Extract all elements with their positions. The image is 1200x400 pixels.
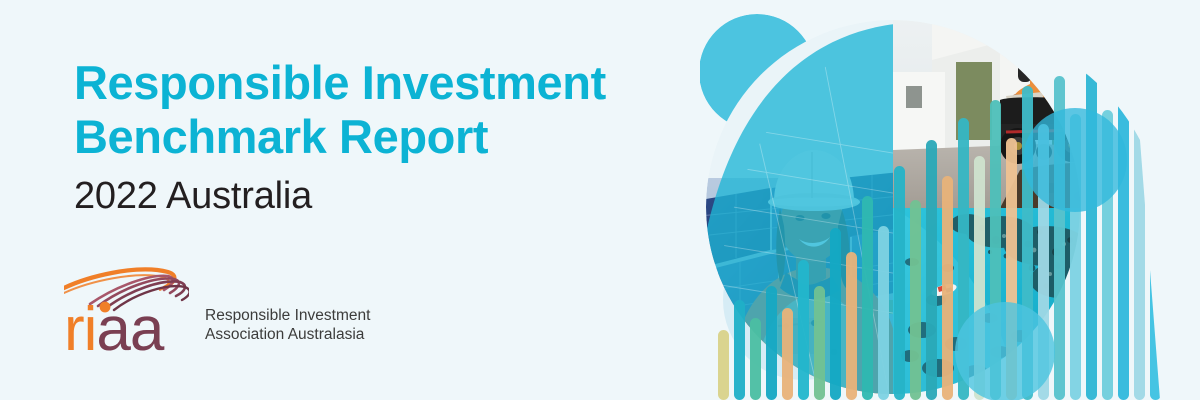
- riaa-logo[interactable]: riaa Responsible Investment Association …: [64, 262, 370, 354]
- decorative-circle-bottom-right: [955, 302, 1055, 400]
- title-block: Responsible Investment Benchmark Report …: [74, 56, 694, 218]
- riaa-logo-mark: riaa: [64, 262, 189, 354]
- page-subtitle: 2022 Australia: [74, 174, 694, 218]
- riaa-logo-tagline: Responsible Investment Association Austr…: [205, 306, 370, 354]
- svg-text:riaa: riaa: [64, 295, 165, 354]
- report-cover-banner: Responsible Investment Benchmark Report …: [0, 0, 1200, 400]
- decorative-circle-mid-right: [1023, 108, 1127, 212]
- cover-image-collage: [700, 0, 1200, 400]
- page-title: Responsible Investment Benchmark Report: [74, 56, 694, 164]
